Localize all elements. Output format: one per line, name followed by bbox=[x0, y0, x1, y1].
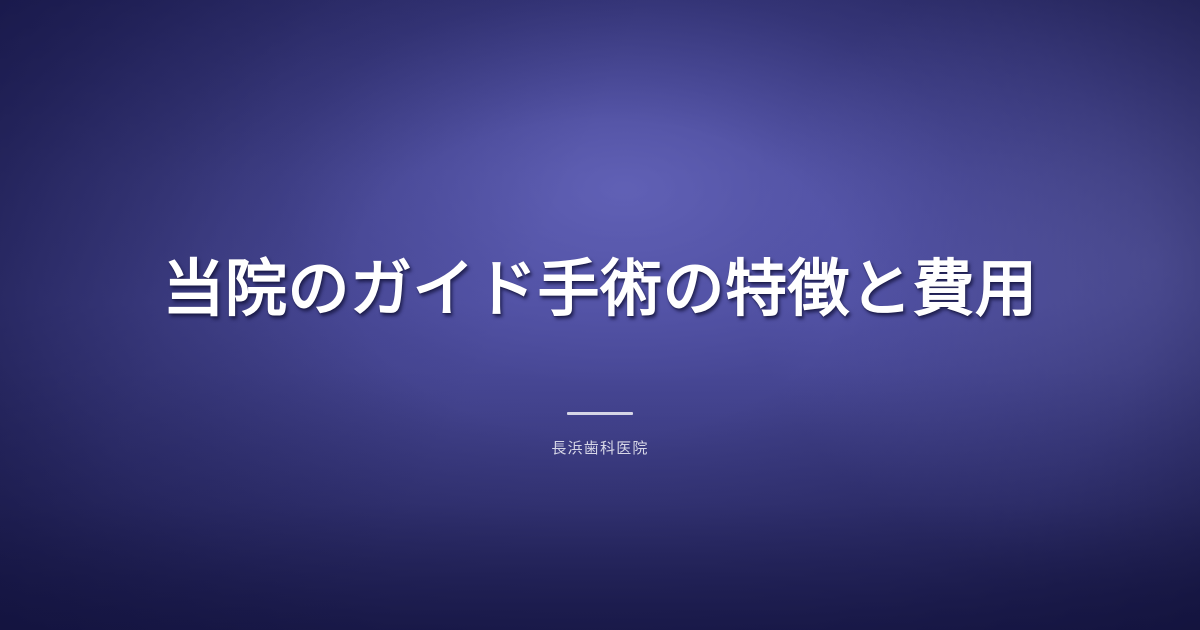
title-slide: 当院のガイド手術の特徴と費用 長浜歯科医院 bbox=[0, 0, 1200, 630]
title-divider bbox=[567, 412, 633, 415]
slide-title: 当院のガイド手術の特徴と費用 bbox=[0, 252, 1200, 325]
slide-subtitle: 長浜歯科医院 bbox=[0, 438, 1200, 459]
slide-content: 当院のガイド手術の特徴と費用 長浜歯科医院 bbox=[0, 0, 1200, 630]
